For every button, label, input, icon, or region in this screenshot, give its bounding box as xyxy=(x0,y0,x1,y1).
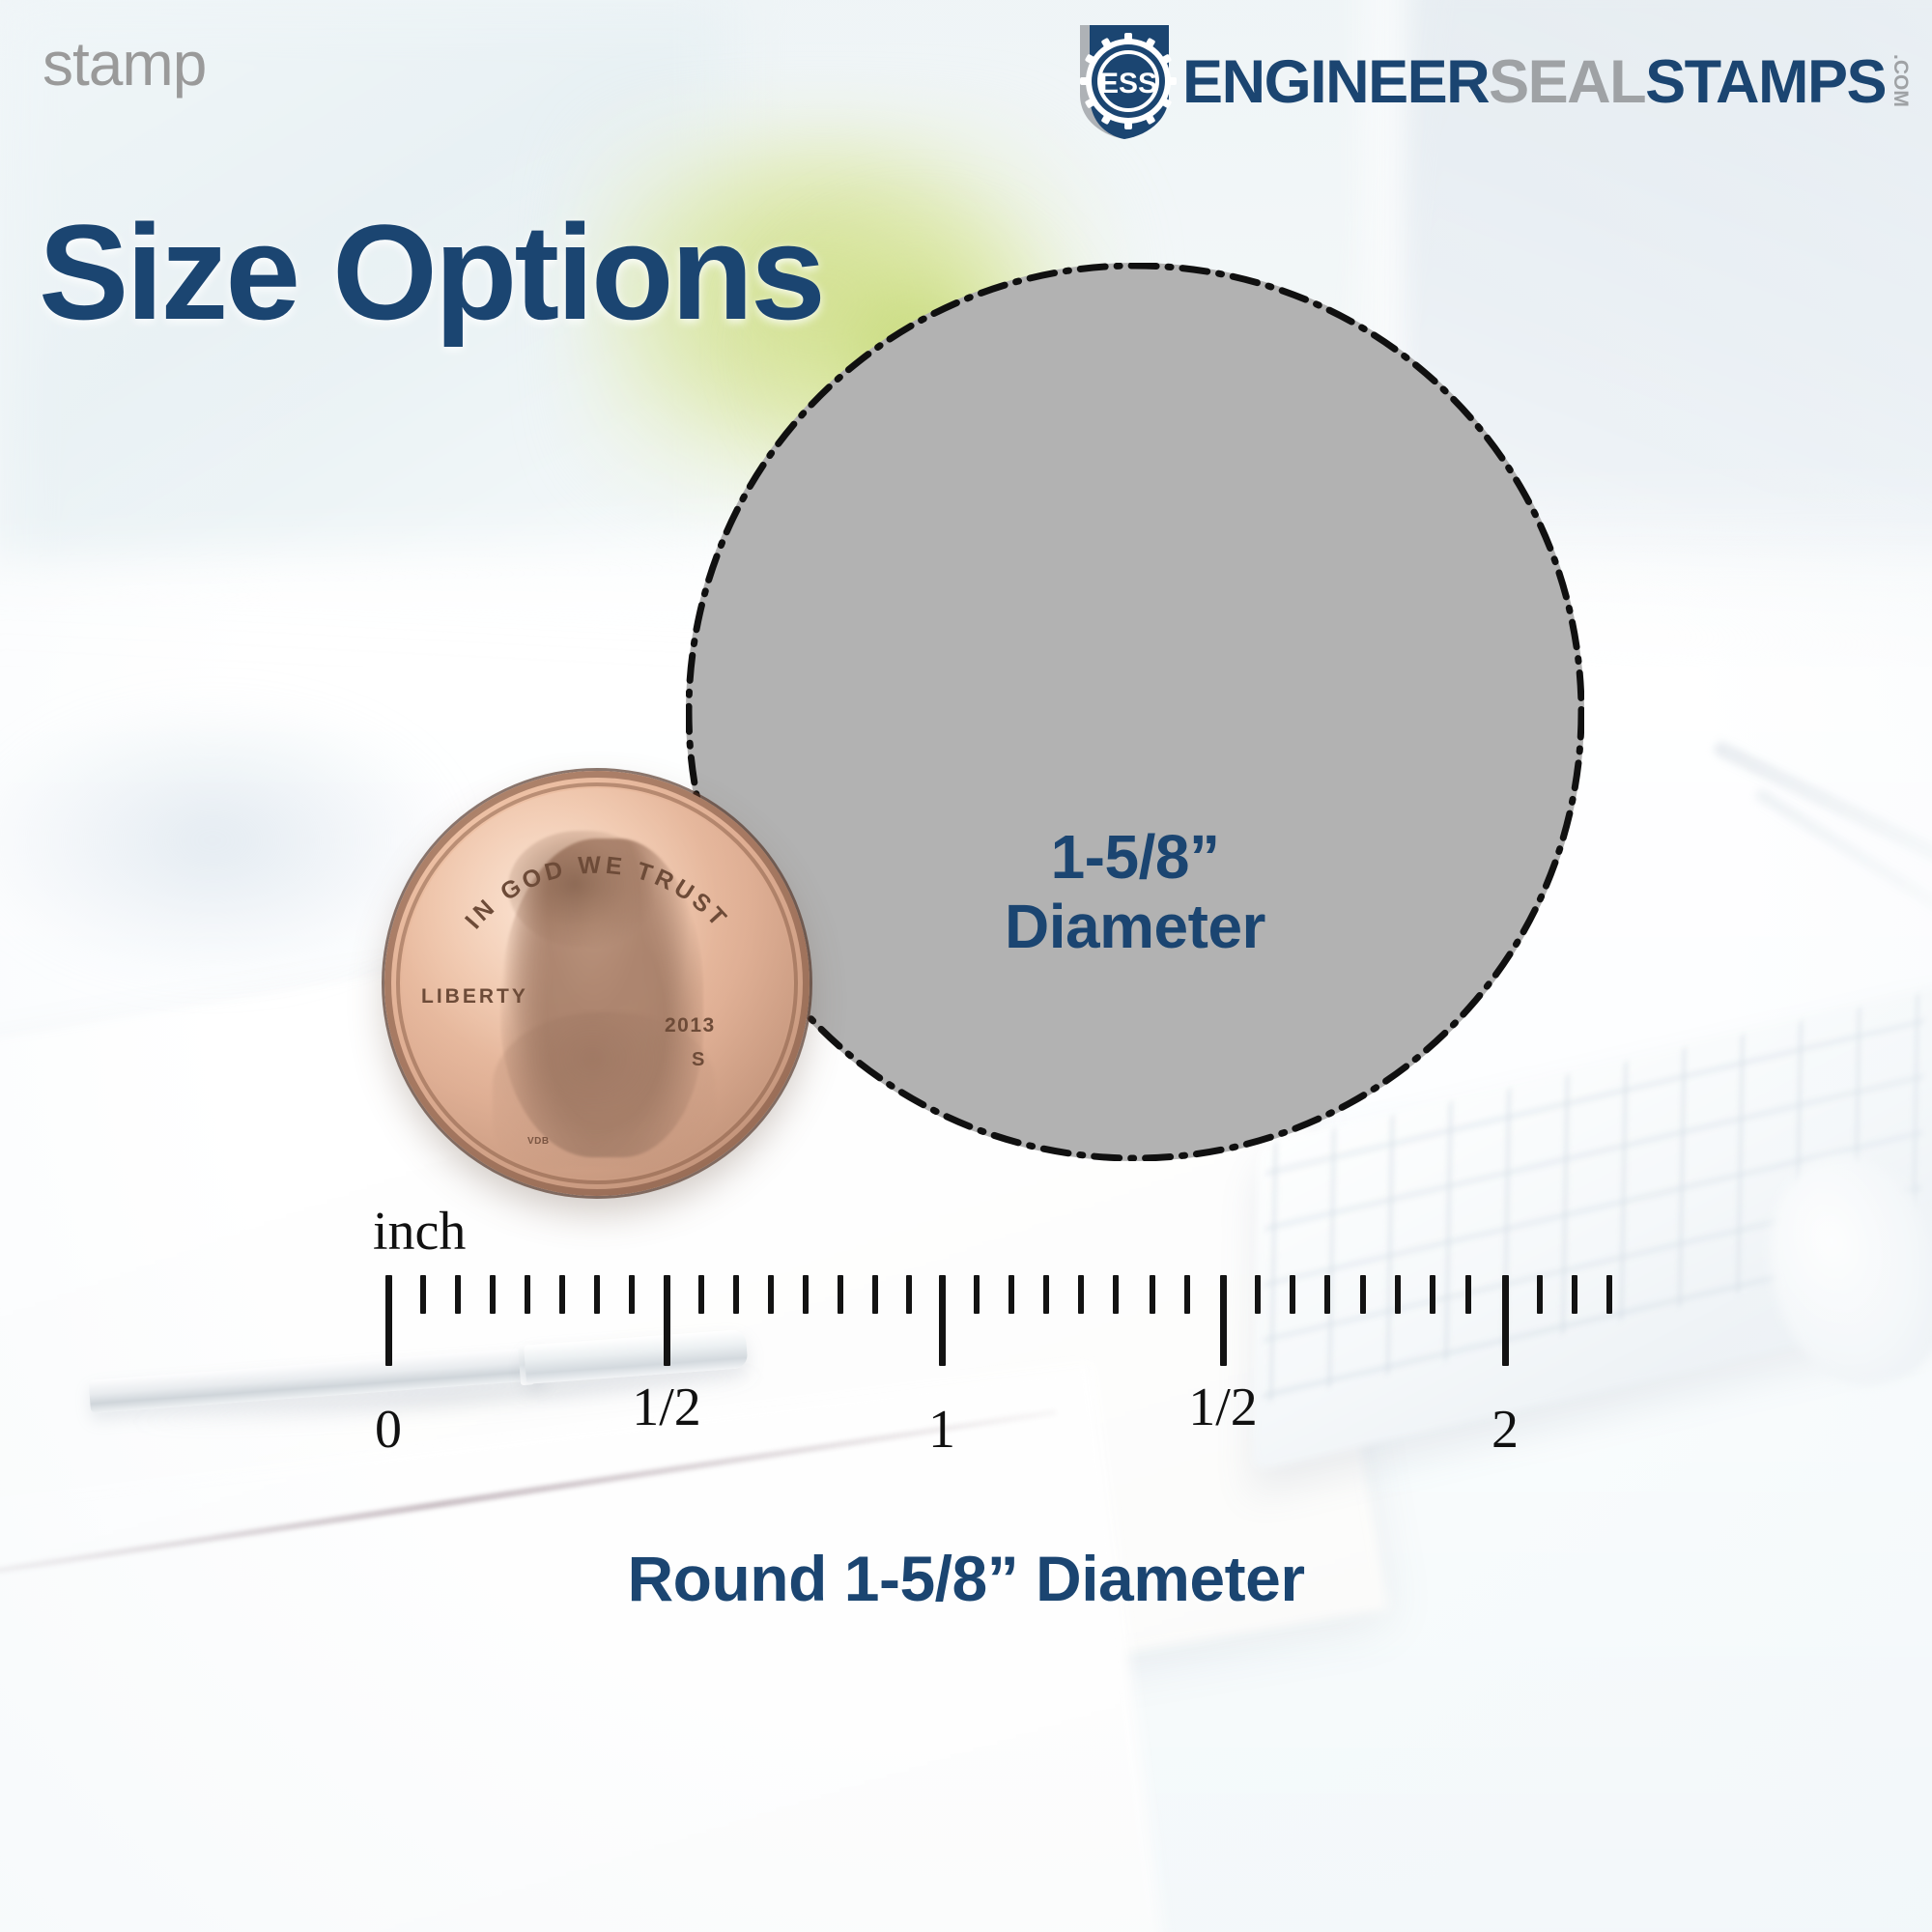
size-circle-dashed-outline xyxy=(686,263,1584,1161)
wordmark-stamps: STAMPS xyxy=(1645,52,1886,113)
penny-scale-reference: IN GOD WE TRUST LIBERTY 2013 S VDB xyxy=(384,771,810,1196)
wordmark-tld: .COM xyxy=(1890,54,1911,107)
size-preview-circle: 1-5/8” Diameter xyxy=(686,263,1584,1161)
penny-mint-mark: S xyxy=(692,1049,707,1071)
penny-motto-text: IN GOD WE TRUST xyxy=(460,851,734,934)
size-circle-label: 1-5/8” Diameter xyxy=(686,823,1584,961)
size-circle-unit: Diameter xyxy=(686,893,1584,962)
brand-wordmark: ENGINEER SEAL STAMPS .COM xyxy=(1182,52,1911,113)
penny-motto-arc: IN GOD WE TRUST xyxy=(384,771,810,1196)
size-circle-dimension: 1-5/8” xyxy=(686,823,1584,893)
size-options-graphic: stamp Size Options xyxy=(0,0,1932,1932)
size-caption: Round 1-5/8” Diameter xyxy=(0,1542,1932,1615)
wordmark-engineer: ENGINEER xyxy=(1182,52,1489,113)
ess-badge-text: ESS xyxy=(1099,68,1157,99)
penny-liberty-text: LIBERTY xyxy=(421,985,528,1009)
penny-designer-initials: VDB xyxy=(527,1136,550,1147)
penny-year-text: 2013 xyxy=(665,1014,716,1037)
svg-text:IN GOD WE TRUST: IN GOD WE TRUST xyxy=(460,851,734,934)
brand-logo[interactable]: ESS ENGINEER SEAL STAMPS .COM xyxy=(1070,23,1911,141)
kicker-text: stamp xyxy=(43,33,206,95)
ess-shield-gear-icon: ESS xyxy=(1070,23,1179,141)
wordmark-seal: SEAL xyxy=(1489,52,1645,113)
